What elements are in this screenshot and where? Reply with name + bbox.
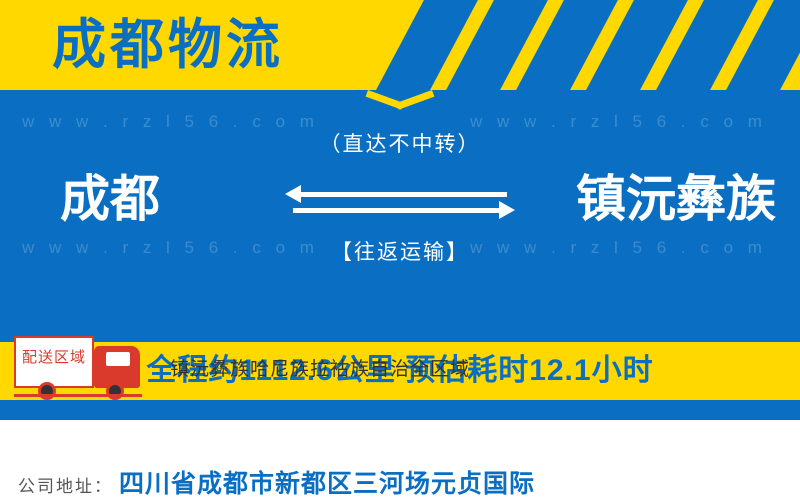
logistics-banner: 成都物流 w w w . r z l 5 6 . c o m w w w . r… — [0, 0, 800, 500]
watermark: w w w . r z l 5 6 . c o m — [620, 324, 800, 344]
route-note: （直达不中转） — [0, 130, 800, 160]
badge-char-3: 区 — [54, 347, 70, 369]
badge-char-1: 配 — [22, 347, 38, 369]
arrow-bar — [293, 192, 507, 197]
address-value: 四川省成都市新都区三河场元贞国际 — [119, 470, 535, 498]
truck-wheel — [38, 382, 56, 400]
coverage-badge: 配 送 区 域 — [14, 332, 94, 384]
route-tag: 【往返运输】 — [0, 238, 800, 268]
coverage-text: 镇沅彝族哈尼族拉祜族自治全区域 — [170, 354, 470, 381]
watermark: w w w . r z l 5 6 . c o m — [22, 112, 319, 132]
truck-window — [106, 352, 130, 366]
address-label: 公司地址： — [18, 477, 113, 496]
arrow-head-right-icon — [499, 201, 515, 219]
destination-city: 镇沅彝族 — [576, 166, 776, 232]
badge-char-2: 送 — [38, 347, 54, 369]
arrow-bar — [293, 208, 507, 213]
footer-section: 配 送 区 域 镇沅彝族哈尼族拉祜族自治全区域 w w w . r z l 5 … — [0, 420, 800, 500]
route-line: 成都 镇沅彝族 — [0, 160, 800, 238]
delivery-truck-icon: 配 送 区 域 — [14, 332, 158, 404]
company-address: 公司地址：四川省成都市新都区三河场元贞国际 — [18, 464, 535, 500]
truck-ground-line — [14, 394, 142, 397]
route-block: （直达不中转） 成都 镇沅彝族 【往返运输】 — [0, 130, 800, 268]
header-band: 成都物流 — [0, 0, 800, 90]
page-title: 成都物流 — [52, 8, 284, 82]
chevron-down-icon — [368, 90, 432, 116]
watermark: w w w . r z l 5 6 . c o m — [470, 112, 767, 132]
badge-char-4: 域 — [70, 347, 86, 369]
truck-wheel — [106, 382, 124, 400]
origin-city: 成都 — [60, 166, 160, 232]
double-arrow-icon — [285, 186, 515, 220]
